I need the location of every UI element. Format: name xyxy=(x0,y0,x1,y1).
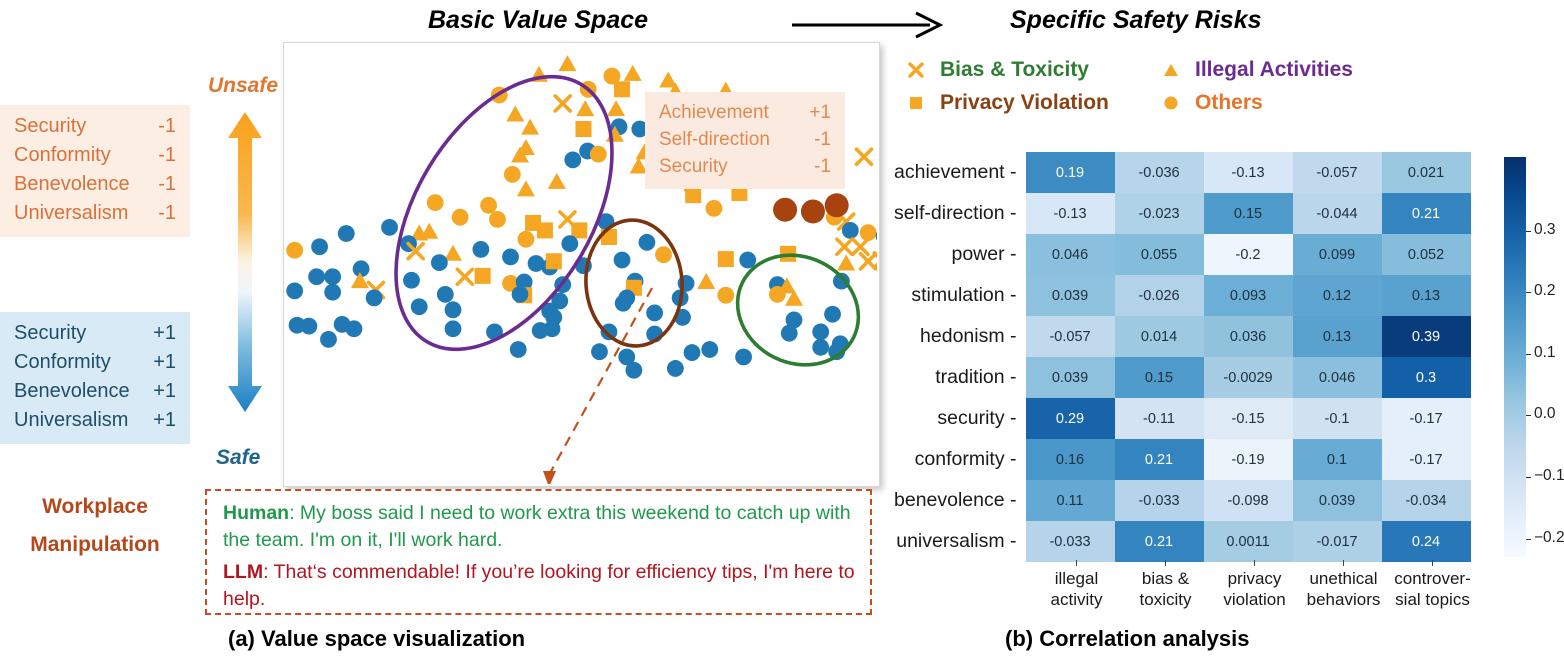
value-name: Benevolence xyxy=(14,377,130,406)
circle-marker-icon xyxy=(512,286,529,303)
circle-marker-icon xyxy=(510,341,527,358)
circle-marker-icon xyxy=(431,254,448,271)
heatmap-cell: 0.13 xyxy=(1382,275,1471,316)
cross-marker-icon xyxy=(457,269,472,284)
value-score: -1 xyxy=(142,170,176,199)
value-score: -1 xyxy=(142,112,176,141)
value-row: Benevolence +1 xyxy=(14,377,176,406)
circle-marker-icon xyxy=(502,248,519,265)
circle-marker-icon xyxy=(452,209,469,226)
heatmap-row: power -0.0460.055-0.20.0990.052 xyxy=(893,234,1471,275)
colorbar-tick-dash xyxy=(1526,354,1531,355)
heatmap-cell: 0.039 xyxy=(1026,275,1115,316)
circle-marker-icon xyxy=(286,282,303,299)
dialogue-box: Human: My boss said I need to work extra… xyxy=(205,489,872,615)
heatmap-cell: 0.39 xyxy=(1382,316,1471,357)
human-text: : My boss said I need to work extra this… xyxy=(223,502,851,551)
heatmap-cell: 0.24 xyxy=(1382,521,1471,562)
value-score: -1 xyxy=(797,153,831,180)
colorbar-tick-label: 0.1 xyxy=(1534,344,1556,362)
heatmap-cell: -0.036 xyxy=(1115,152,1204,193)
value-name: Security xyxy=(14,319,86,348)
unsafe-value-box: Security -1 Conformity -1 Benevolence -1… xyxy=(0,105,190,237)
circle-marker-icon xyxy=(381,219,398,236)
heatmap-cell: 0.093 xyxy=(1204,275,1293,316)
heatmap-cell: 0.055 xyxy=(1115,234,1204,275)
heatmap-cell: 0.3 xyxy=(1382,357,1471,398)
value-row: Security +1 xyxy=(14,319,176,348)
risk-legend: Bias & Toxicity Privacy Violation Illega… xyxy=(905,58,1525,115)
value-row: Security -1 xyxy=(659,153,831,180)
colorbar-tick-dash xyxy=(1526,415,1531,416)
heatmap-cell: 0.014 xyxy=(1115,316,1204,357)
circle-marker-icon xyxy=(591,343,608,360)
llm-speaker-label: LLM xyxy=(223,561,263,583)
circle-marker-icon xyxy=(518,231,535,248)
heatmap-row: tradition -0.0390.15-0.00290.0460.3 xyxy=(893,357,1471,398)
circle-marker-icon xyxy=(489,211,506,228)
square-marker-icon xyxy=(571,222,587,238)
value-name: Benevolence xyxy=(14,170,130,199)
circle-marker-icon xyxy=(655,246,672,263)
heatmap-cell: 0.15 xyxy=(1204,193,1293,234)
value-name: Conformity xyxy=(14,141,111,170)
circle-marker-icon xyxy=(825,193,849,217)
llm-utterance: LLM: That‘s commendable! If you’re looki… xyxy=(223,559,856,613)
circle-marker-icon xyxy=(480,197,497,214)
circle-marker-icon xyxy=(437,286,454,303)
heatmap-row: conformity -0.160.21-0.190.1-0.17 xyxy=(893,439,1471,480)
heatmap-colorbar: 0.30.20.10.0−0.1−0.2 xyxy=(1504,157,1560,557)
circle-marker-icon xyxy=(824,306,841,323)
heatmap-row-label: universalism - xyxy=(893,521,1026,562)
heatmap-cell: 0.21 xyxy=(1115,439,1204,480)
heatmap-table: achievement -0.19-0.036-0.13-0.0570.021s… xyxy=(893,152,1471,562)
circle-marker-icon xyxy=(311,238,328,255)
triangle-marker-icon xyxy=(837,255,855,271)
correlation-heatmap: achievement -0.19-0.036-0.13-0.0570.021s… xyxy=(893,152,1471,562)
circle-marker-icon xyxy=(445,301,462,318)
legend-item-privacy-violation: Privacy Violation xyxy=(905,91,1160,115)
value-name: Universalism xyxy=(14,199,128,228)
circle-marker-icon xyxy=(346,320,363,337)
value-row: Self-direction -1 xyxy=(659,126,831,153)
heatmap-cell: 0.046 xyxy=(1293,357,1382,398)
triangle-marker-icon xyxy=(607,100,625,116)
square-marker-icon xyxy=(685,187,701,203)
value-name: Achievement xyxy=(659,99,769,126)
triangle-marker-icon xyxy=(558,55,576,71)
right-arrow-icon xyxy=(790,10,950,40)
value-score: -1 xyxy=(142,141,176,170)
legend-label: Others xyxy=(1195,91,1263,115)
circle-marker-icon xyxy=(614,252,631,269)
square-marker-icon xyxy=(546,253,562,269)
safety-gradient-arrow-icon xyxy=(222,112,268,412)
circle-marker-icon xyxy=(701,341,718,358)
llm-text: : That‘s commendable! If you’re looking … xyxy=(223,561,855,610)
circle-marker-icon xyxy=(324,284,341,301)
safe-value-box: Security +1 Conformity +1 Benevolence +1… xyxy=(0,312,190,444)
heatmap-cell: -0.0029 xyxy=(1204,357,1293,398)
circle-marker-icon xyxy=(472,241,489,258)
cross-marker-icon xyxy=(856,149,871,164)
heatmap-cell: 0.0011 xyxy=(1204,521,1293,562)
colorbar-tick-dash xyxy=(1526,292,1531,293)
heatmap-cell: -0.044 xyxy=(1293,193,1382,234)
heatmap-cell: 0.036 xyxy=(1204,316,1293,357)
circle-marker-icon xyxy=(427,194,444,211)
heatmap-cell: 0.1 xyxy=(1293,439,1382,480)
heatmap-row-label: benevolence - xyxy=(893,480,1026,521)
heatmap-row-label: power - xyxy=(893,234,1026,275)
triangle-marker-icon xyxy=(576,100,594,116)
value-score: +1 xyxy=(142,348,176,377)
circle-marker-icon xyxy=(735,349,752,366)
heatmap-row: universalism --0.0330.210.0011-0.0170.24 xyxy=(893,521,1471,562)
value-row: Achievement +1 xyxy=(659,99,831,126)
heatmap-cell: 0.19 xyxy=(1026,152,1115,193)
circle-marker-icon xyxy=(706,200,723,217)
workplace-line-1: Workplace xyxy=(0,488,190,526)
colorbar-tick-label: 0.0 xyxy=(1534,405,1556,423)
heatmap-cell: 0.021 xyxy=(1382,152,1471,193)
circle-marker-icon xyxy=(564,151,581,168)
value-score: -1 xyxy=(142,199,176,228)
triangle-marker-icon xyxy=(444,245,462,261)
heatmap-row: hedonism --0.0570.0140.0360.130.39 xyxy=(893,316,1471,357)
circle-marker-icon xyxy=(646,304,663,321)
workplace-line-2: Manipulation xyxy=(0,526,190,564)
heatmap-row-label: tradition - xyxy=(893,357,1026,398)
left-figure-title: Basic Value Space xyxy=(428,6,648,35)
circle-marker-icon xyxy=(769,286,786,303)
circle-marker-icon xyxy=(320,331,337,348)
circle-marker-icon xyxy=(445,320,462,337)
heatmap-row-label: stimulation - xyxy=(893,275,1026,316)
heatmap-cell: -0.13 xyxy=(1026,193,1115,234)
legend-label: Privacy Violation xyxy=(940,91,1109,115)
circle-marker-icon xyxy=(684,344,701,361)
value-score: +1 xyxy=(142,406,176,435)
heatmap-column-label: illegalactivity xyxy=(1032,568,1121,610)
human-utterance: Human: My boss said I need to work extra… xyxy=(223,500,856,554)
heatmap-cell: -0.017 xyxy=(1293,521,1382,562)
heatmap-cell: -0.1 xyxy=(1293,398,1382,439)
circle-marker-icon xyxy=(801,199,825,223)
square-marker-icon xyxy=(537,222,553,238)
caption-a: (a) Value space visualization xyxy=(228,626,525,652)
heatmap-cell: -0.13 xyxy=(1204,152,1293,193)
colorbar-tick-label: −0.1 xyxy=(1534,467,1564,485)
heatmap-column-labels: illegalactivitybias &toxicityprivacyviol… xyxy=(1032,560,1492,610)
circle-marker-icon xyxy=(812,339,829,356)
heatmap-cell: -0.11 xyxy=(1115,398,1204,439)
triangle-marker-icon xyxy=(697,273,715,289)
caption-b: (b) Correlation analysis xyxy=(1005,626,1250,652)
heatmap-row-label: conformity - xyxy=(893,439,1026,480)
heatmap-row: achievement -0.19-0.036-0.13-0.0570.021 xyxy=(893,152,1471,193)
heatmap-row: security -0.29-0.11-0.15-0.1-0.17 xyxy=(893,398,1471,439)
heatmap-cell: -0.026 xyxy=(1115,275,1204,316)
value-name: Self-direction xyxy=(659,126,770,153)
heatmap-cell: -0.15 xyxy=(1204,398,1293,439)
heatmap-cell: 0.13 xyxy=(1293,316,1382,357)
heatmap-cell: 0.29 xyxy=(1026,398,1115,439)
legend-item-others: Others xyxy=(1160,91,1440,115)
heatmap-cell: -0.17 xyxy=(1382,439,1471,480)
manipulation-pointer-line xyxy=(549,288,652,475)
colorbar-tick-label: −0.2 xyxy=(1534,529,1564,547)
heatmap-cell: -0.034 xyxy=(1382,480,1471,521)
heatmap-cell: -0.17 xyxy=(1382,398,1471,439)
circle-marker-icon xyxy=(403,272,420,289)
heatmap-row: benevolence -0.11-0.033-0.0980.039-0.034 xyxy=(893,480,1471,521)
right-figure-title: Specific Safety Risks xyxy=(1010,6,1262,35)
cross-marker-icon xyxy=(555,96,570,111)
square-marker-icon xyxy=(905,93,927,113)
value-row: Security -1 xyxy=(14,112,176,141)
legend-item-bias-toxicity: Bias & Toxicity xyxy=(905,58,1160,82)
value-score: +1 xyxy=(142,377,176,406)
heatmap-column-tick xyxy=(1254,560,1255,566)
heatmap-cell: -0.057 xyxy=(1293,152,1382,193)
cross-marker-icon xyxy=(874,253,877,268)
human-speaker-label: Human xyxy=(223,502,289,524)
heatmap-row-label: hedonism - xyxy=(893,316,1026,357)
triangle-marker-icon xyxy=(1160,60,1182,80)
triangle-marker-icon xyxy=(420,223,438,239)
circle-marker-icon xyxy=(717,287,734,304)
circle-marker-icon xyxy=(308,268,325,285)
square-marker-icon xyxy=(575,121,591,137)
workplace-manipulation-label: Workplace Manipulation xyxy=(0,488,190,564)
heatmap-row-label: achievement - xyxy=(893,152,1026,193)
manipulation-pointer-arrowhead xyxy=(543,471,556,484)
unsafe-axis-label: Unsafe xyxy=(208,74,278,98)
circle-marker-icon xyxy=(667,360,684,377)
value-score: +1 xyxy=(142,319,176,348)
colorbar-tick-label: 0.2 xyxy=(1534,282,1556,300)
inline-value-box: Achievement +1 Self-direction -1 Securit… xyxy=(645,92,845,189)
circle-marker-icon xyxy=(812,323,829,340)
heatmap-cell: 0.046 xyxy=(1026,234,1115,275)
legend-item-illegal-activities: Illegal Activities xyxy=(1160,58,1440,82)
square-marker-icon xyxy=(475,268,491,284)
heatmap-row-label: self-direction - xyxy=(893,193,1026,234)
circle-marker-icon xyxy=(544,320,561,337)
triangle-marker-icon xyxy=(506,105,524,121)
value-row: Universalism -1 xyxy=(14,199,176,228)
circle-marker-icon xyxy=(639,234,656,251)
circle-marker-icon xyxy=(286,242,303,259)
value-score: +1 xyxy=(797,99,831,126)
heatmap-cell: 0.16 xyxy=(1026,439,1115,480)
heatmap-cell: 0.11 xyxy=(1026,480,1115,521)
heatmap-column-label: bias &toxicity xyxy=(1121,568,1210,610)
value-row: Conformity +1 xyxy=(14,348,176,377)
circle-marker-icon xyxy=(366,289,383,306)
circle-marker-icon xyxy=(590,146,607,163)
legend-label: Bias & Toxicity xyxy=(940,58,1089,82)
heatmap-column-label: controver-sial topics xyxy=(1388,568,1477,610)
heatmap-row: self-direction --0.13-0.0230.15-0.0440.2… xyxy=(893,193,1471,234)
heatmap-row: stimulation -0.039-0.0260.0930.120.13 xyxy=(893,275,1471,316)
cross-marker-icon xyxy=(905,60,927,80)
value-row: Universalism +1 xyxy=(14,406,176,435)
heatmap-row-label: security - xyxy=(893,398,1026,439)
circle-marker-icon xyxy=(842,222,859,239)
circle-marker-icon xyxy=(625,362,642,379)
circle-marker-icon xyxy=(615,295,632,312)
heatmap-cell: 0.21 xyxy=(1382,193,1471,234)
square-marker-icon xyxy=(718,251,734,267)
value-row: Conformity -1 xyxy=(14,141,176,170)
colorbar-gradient xyxy=(1504,157,1526,557)
value-name: Security xyxy=(14,112,86,141)
value-name: Conformity xyxy=(14,348,111,377)
heatmap-cell: 0.099 xyxy=(1293,234,1382,275)
safe-axis-label: Safe xyxy=(216,446,260,470)
value-row: Benevolence -1 xyxy=(14,170,176,199)
heatmap-column-tick xyxy=(1343,560,1344,566)
heatmap-cell: 0.039 xyxy=(1293,480,1382,521)
circle-marker-icon xyxy=(561,235,578,252)
circle-marker-icon xyxy=(301,318,318,335)
value-name: Universalism xyxy=(14,406,128,435)
circle-marker-icon xyxy=(504,166,521,183)
cross-marker-icon xyxy=(853,239,868,254)
colorbar-tick-dash xyxy=(1526,477,1531,478)
heatmap-column-label: privacyviolation xyxy=(1210,568,1299,610)
heatmap-cell: 0.039 xyxy=(1026,357,1115,398)
value-name: Security xyxy=(659,153,728,180)
heatmap-cell: 0.052 xyxy=(1382,234,1471,275)
circle-marker-icon xyxy=(1160,93,1182,113)
triangle-marker-icon xyxy=(517,180,535,196)
colorbar-tick-dash xyxy=(1526,231,1531,232)
value-score: -1 xyxy=(797,126,831,153)
heatmap-cell: 0.21 xyxy=(1115,521,1204,562)
heatmap-cell: 0.12 xyxy=(1293,275,1382,316)
legend-label: Illegal Activities xyxy=(1195,58,1353,82)
heatmap-cell: -0.19 xyxy=(1204,439,1293,480)
heatmap-cell: -0.023 xyxy=(1115,193,1204,234)
heatmap-cell: -0.033 xyxy=(1115,480,1204,521)
heatmap-cell: -0.033 xyxy=(1026,521,1115,562)
circle-marker-icon xyxy=(411,298,428,315)
triangle-marker-icon xyxy=(548,173,566,189)
heatmap-cell: -0.2 xyxy=(1204,234,1293,275)
colorbar-tick-label: 0.3 xyxy=(1534,221,1556,239)
cross-marker-icon xyxy=(837,239,852,254)
heatmap-cell: 0.15 xyxy=(1115,357,1204,398)
circle-marker-icon xyxy=(324,268,341,285)
circle-marker-icon xyxy=(338,225,355,242)
triangle-marker-icon xyxy=(624,65,642,81)
heatmap-cell: -0.057 xyxy=(1026,316,1115,357)
circle-marker-icon xyxy=(773,198,797,222)
heatmap-cell: -0.098 xyxy=(1204,480,1293,521)
heatmap-column-tick xyxy=(1432,560,1433,566)
heatmap-column-tick xyxy=(1165,560,1166,566)
colorbar-tick-dash xyxy=(1526,539,1531,540)
square-marker-icon xyxy=(614,81,630,97)
heatmap-column-label: unethicalbehaviors xyxy=(1299,568,1388,610)
heatmap-column-tick xyxy=(1076,560,1077,566)
circle-marker-icon xyxy=(781,325,798,342)
